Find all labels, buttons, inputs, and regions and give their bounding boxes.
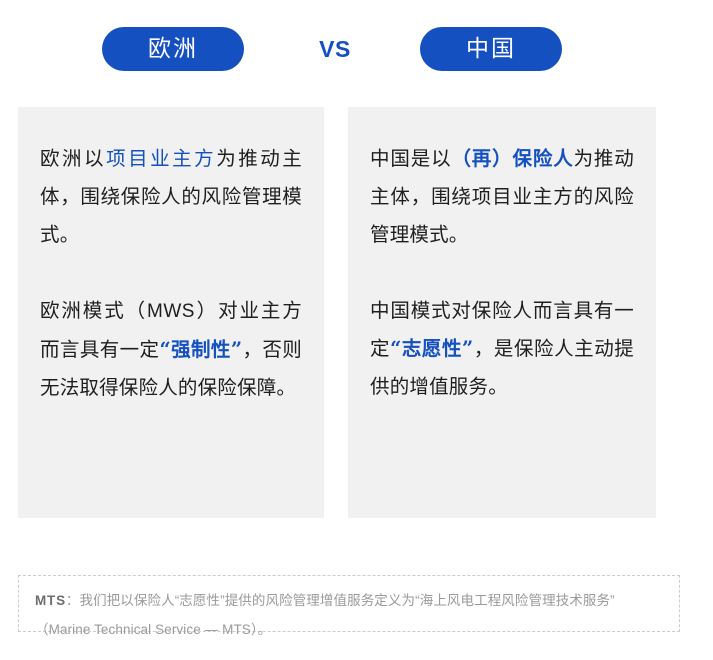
header-bar: 欧洲 VS 中国 (0, 0, 713, 98)
footnote-box: MTS：我们把以保险人“志愿性”提供的风险管理增值服务定义为“海上风电工程风险管… (18, 575, 680, 632)
comparison-card-china: 中国是以（再）保险人为推动主体，围绕项目业主方的风险管理模式。 中国模式对保险人… (348, 107, 656, 518)
region-button-china-label: 中国 (466, 38, 516, 61)
europe-paragraph-2: 欧洲模式（MWS）对业主方而言具有一定“强制性”，否则无法取得保险人的保险保障。 (40, 292, 302, 407)
china-p1-highlight: （再）保险人 (451, 147, 573, 170)
europe-p2-before: 欧洲模式（ (40, 299, 147, 322)
comparison-infographic: { "colors": { "accent_blue": "#1450c0", … (0, 0, 713, 660)
footnote-key-mts: MTS (35, 593, 66, 608)
comparison-card-europe: 欧洲以项目业主方为推动主体，围绕保险人的风险管理模式。 欧洲模式（MWS）对业主… (18, 107, 324, 518)
vs-separator-label: VS (305, 36, 365, 63)
comparison-cards: 欧洲以项目业主方为推动主体，围绕保险人的风险管理模式。 欧洲模式（MWS）对业主… (0, 107, 713, 518)
europe-p1-highlight: 项目业主方 (106, 147, 216, 170)
region-button-europe[interactable]: 欧洲 (102, 27, 244, 71)
europe-p2-highlight: “强制性” (159, 338, 242, 361)
europe-p1-before: 欧洲以 (40, 147, 106, 170)
region-button-china[interactable]: 中国 (420, 27, 562, 71)
europe-p2-latin-mws: MWS (147, 301, 195, 322)
china-paragraph-2: 中国模式对保险人而言具有一定“志愿性”，是保险人主动提供的增值服务。 (370, 292, 634, 406)
footnote-text: MTS：我们把以保险人“志愿性”提供的风险管理增值服务定义为“海上风电工程风险管… (35, 586, 663, 644)
china-p2-highlight: “志愿性” (390, 337, 473, 360)
china-paragraph-1: 中国是以（再）保险人为推动主体，围绕项目业主方的风险管理模式。 (370, 140, 634, 254)
footnote-body: ：我们把以保险人“志愿性”提供的风险管理增值服务定义为“海上风电工程风险管理技术… (35, 593, 615, 637)
europe-paragraph-1: 欧洲以项目业主方为推动主体，围绕保险人的风险管理模式。 (40, 140, 302, 254)
region-button-europe-label: 欧洲 (148, 38, 198, 61)
china-p1-before: 中国是以 (370, 147, 451, 170)
